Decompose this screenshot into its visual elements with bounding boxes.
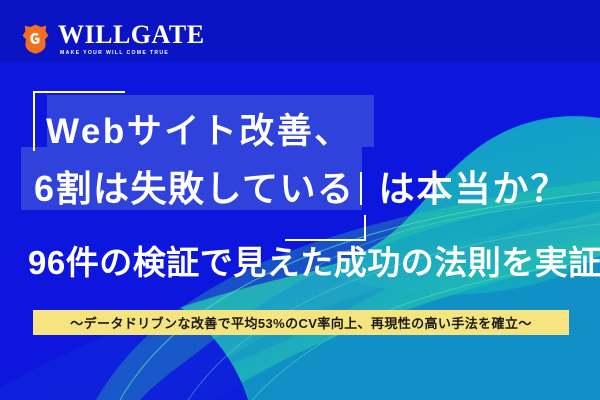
headline-line-2-highlight: 6割は失敗している [34, 160, 354, 212]
headline-line-1: Webサイト改善、 [46, 103, 352, 154]
willgate-banner: WILLGATE MAKE YOUR WILL COME TRUE Webサイト… [0, 0, 600, 400]
willgate-shield-icon [22, 24, 49, 54]
logo-wordmark: WILLGATE [58, 22, 205, 48]
logo-text-block: WILLGATE MAKE YOUR WILL COME TRUE [58, 22, 205, 56]
headline-divider-bar [360, 172, 362, 205]
headline-line-2-tail: は本当か？ [378, 160, 568, 212]
corner-bracket-top-left-vertical [33, 91, 35, 151]
willgate-logo[interactable]: WILLGATE MAKE YOUR WILL COME TRUE [22, 22, 205, 56]
headline-line-2: 6割は失敗している は本当か？ [34, 160, 568, 212]
subtitle-bar: ～データドリブンな改善で平均53%のCV率向上、再現性の高い手法を確立～ [33, 310, 569, 335]
subtitle-text: ～データドリブンな改善で平均53%のCV率向上、再現性の高い手法を確立～ [70, 313, 531, 332]
logo-tagline: MAKE YOUR WILL COME TRUE [60, 51, 169, 56]
corner-bracket-top-left-horizontal [33, 91, 125, 93]
headline-line-3: 96件の検証で見えた成功の法則を実証 [28, 236, 600, 284]
